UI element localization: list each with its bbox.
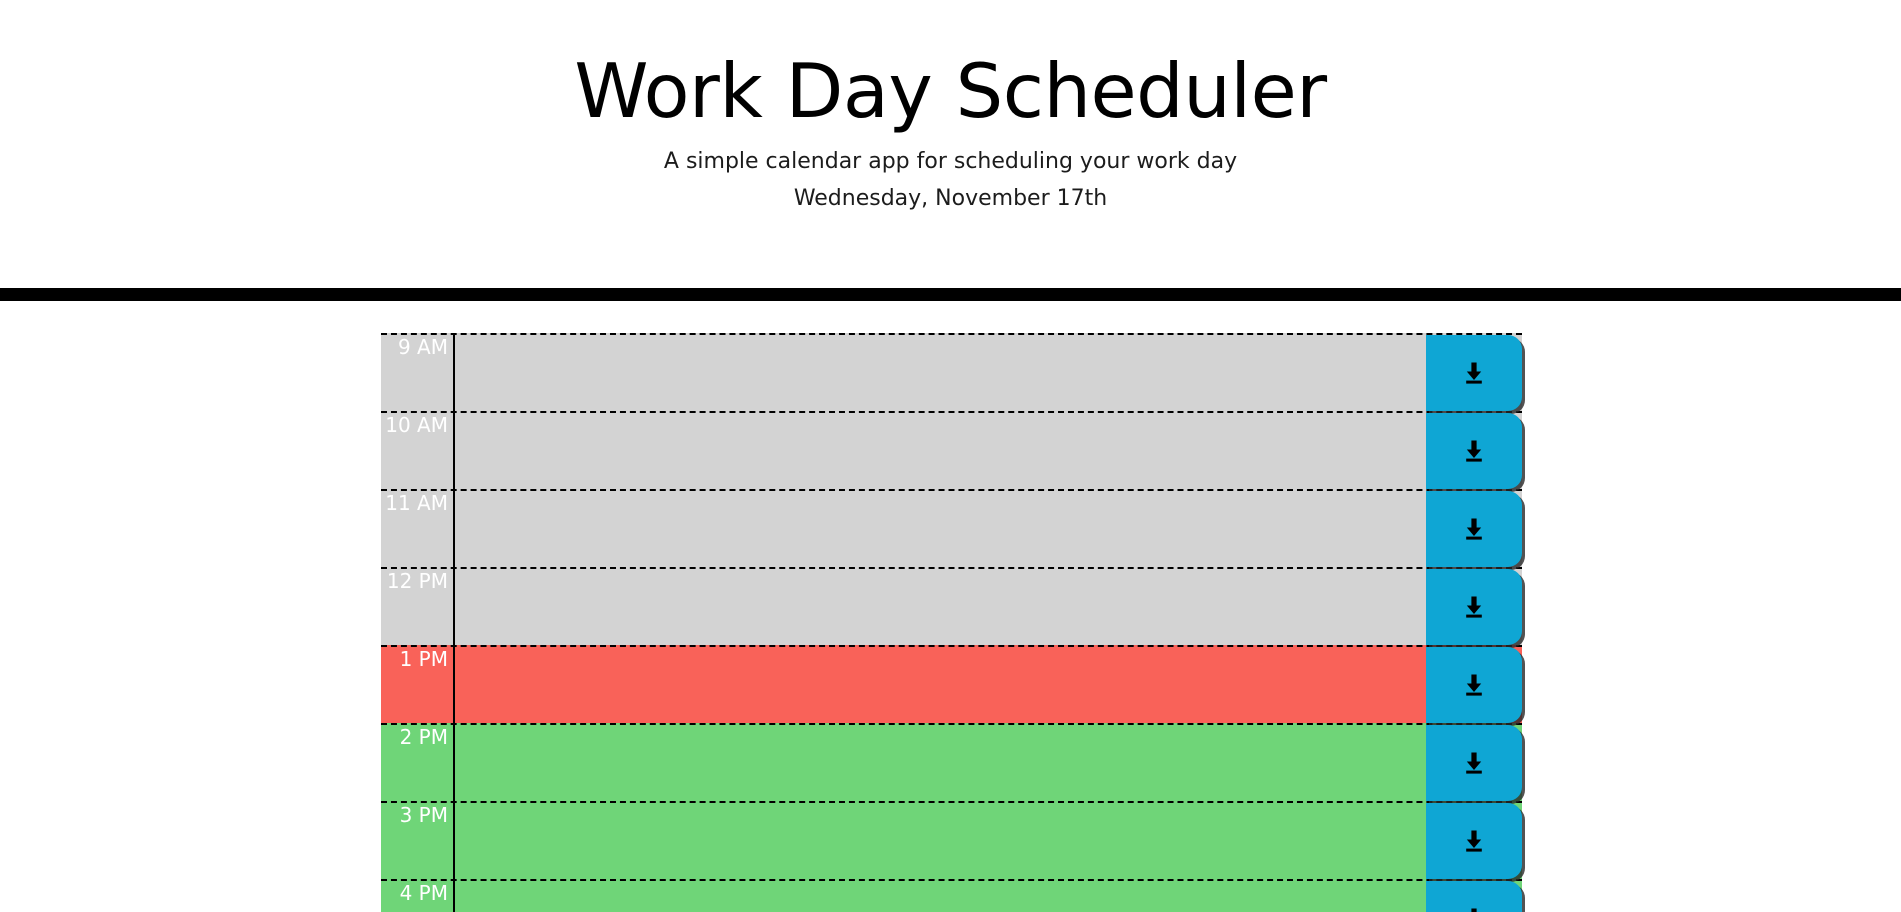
hour-label-10-am: 10 AM (381, 413, 455, 489)
download-icon (1463, 751, 1485, 775)
hour-label-9-am: 9 AM (381, 335, 455, 411)
time-block-4-pm: 4 PM (381, 879, 1522, 912)
hour-label-text: 12 PM (381, 571, 448, 591)
hour-label-text: 1 PM (381, 649, 448, 669)
hour-label-1-pm: 1 PM (381, 647, 455, 723)
download-icon (1463, 517, 1485, 541)
download-icon (1463, 439, 1485, 463)
save-button-3-pm[interactable] (1426, 803, 1522, 879)
hour-label-text: 2 PM (381, 727, 448, 747)
download-icon (1463, 673, 1485, 697)
page-title: Work Day Scheduler (0, 48, 1901, 134)
save-button-2-pm[interactable] (1426, 725, 1522, 801)
save-button-11-am[interactable] (1426, 491, 1522, 567)
hour-label-11-am: 11 AM (381, 491, 455, 567)
save-button-10-am[interactable] (1426, 413, 1522, 489)
schedule-viewport: 9 AM 10 AM (0, 333, 1901, 912)
hour-label-text: 9 AM (381, 337, 448, 357)
download-icon (1463, 907, 1485, 912)
time-block-3-pm: 3 PM (381, 801, 1522, 881)
save-button-4-pm[interactable] (1426, 881, 1522, 912)
hour-label-text: 4 PM (381, 883, 448, 903)
event-input-3-pm[interactable] (455, 803, 1426, 879)
hour-label-4-pm: 4 PM (381, 881, 455, 912)
hour-label-text: 11 AM (381, 493, 448, 513)
hour-label-text: 10 AM (381, 415, 448, 435)
hour-label-12-pm: 12 PM (381, 569, 455, 645)
time-block-1-pm: 1 PM (381, 645, 1522, 725)
save-button-12-pm[interactable] (1426, 569, 1522, 645)
hour-label-text: 3 PM (381, 805, 448, 825)
schedule-container: 9 AM 10 AM (381, 333, 1522, 912)
time-block-11-am: 11 AM (381, 489, 1522, 569)
page-header: Work Day Scheduler A simple calendar app… (0, 0, 1901, 288)
event-input-10-am[interactable] (455, 413, 1426, 489)
hour-label-3-pm: 3 PM (381, 803, 455, 879)
download-icon (1463, 829, 1485, 853)
time-block-9-am: 9 AM (381, 333, 1522, 413)
header-divider (0, 288, 1901, 301)
time-block-2-pm: 2 PM (381, 723, 1522, 803)
save-button-9-am[interactable] (1426, 335, 1522, 411)
event-input-1-pm[interactable] (455, 647, 1426, 723)
event-input-11-am[interactable] (455, 491, 1426, 567)
page-subtitle: A simple calendar app for scheduling you… (0, 148, 1901, 176)
event-input-9-am[interactable] (455, 335, 1426, 411)
download-icon (1463, 361, 1485, 385)
event-input-4-pm[interactable] (455, 881, 1426, 912)
download-icon (1463, 595, 1485, 619)
save-button-1-pm[interactable] (1426, 647, 1522, 723)
time-block-10-am: 10 AM (381, 411, 1522, 491)
event-input-2-pm[interactable] (455, 725, 1426, 801)
hour-label-2-pm: 2 PM (381, 725, 455, 801)
time-block-12-pm: 12 PM (381, 567, 1522, 647)
work-day-scheduler-app: Work Day Scheduler A simple calendar app… (0, 0, 1901, 912)
event-input-12-pm[interactable] (455, 569, 1426, 645)
current-date: Wednesday, November 17th (0, 185, 1901, 213)
